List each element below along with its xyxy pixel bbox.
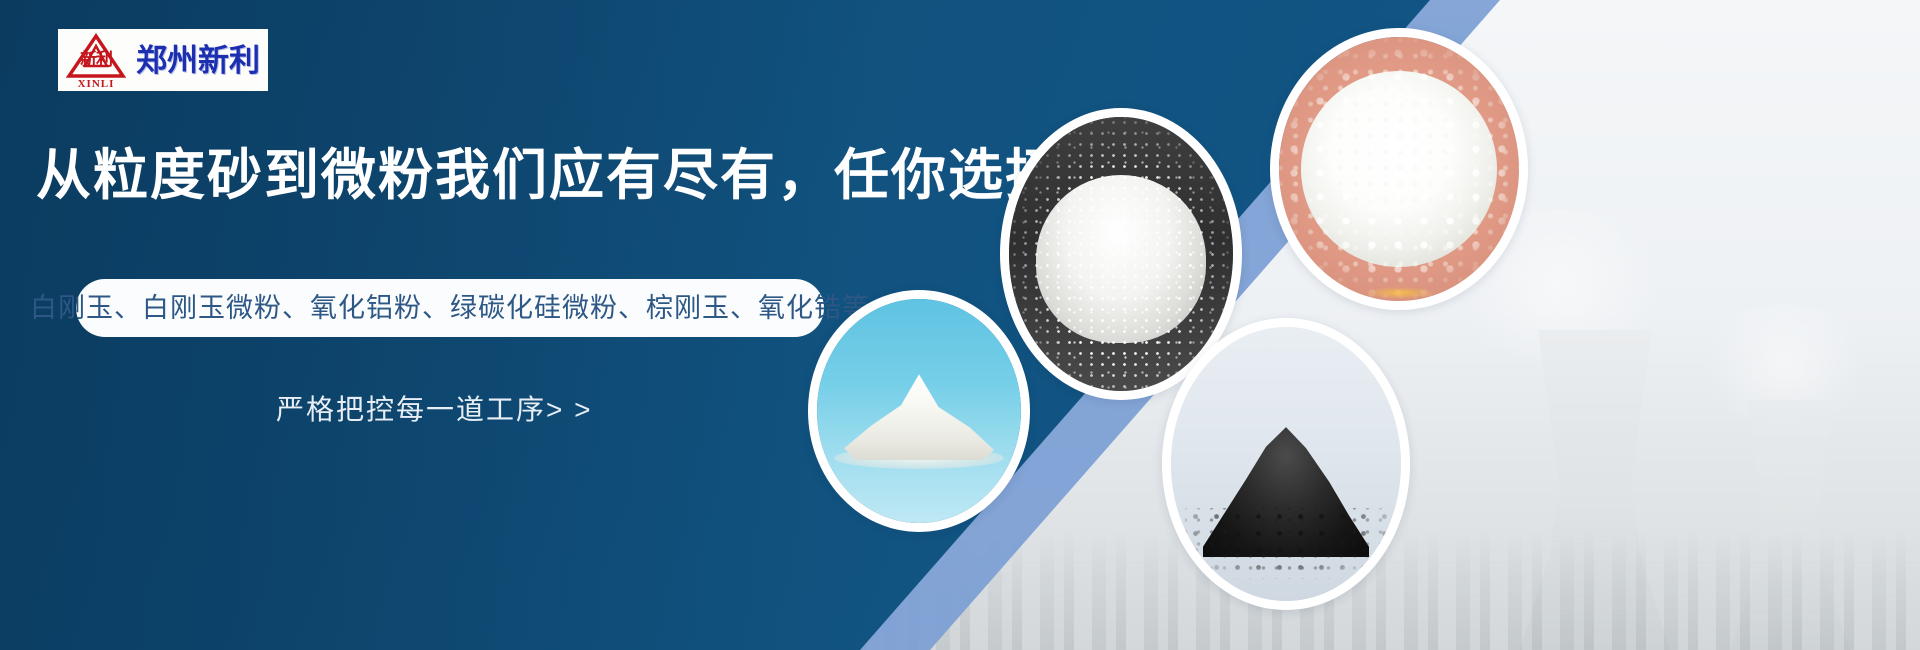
headline: 从粒度砂到微粉我们应有尽有，任你选择 <box>36 148 1062 203</box>
product-material-heap <box>844 374 994 460</box>
product-photo-plate <box>1171 327 1401 601</box>
product-photo-plate <box>1279 37 1519 301</box>
product-material-grains <box>1279 37 1519 301</box>
promo-banner: 新利 XINLI 郑州新利 从粒度砂到微粉我们应有尽有，任你选择 白刚玉、白刚玉… <box>0 0 1920 650</box>
product-material-grains <box>1185 508 1387 579</box>
logo-wordmark: 郑州新利 <box>136 45 260 76</box>
company-logo[interactable]: 新利 XINLI 郑州新利 <box>58 29 268 91</box>
product-list-text: 白刚玉、白刚玉微粉、氧化铝粉、绿碳化硅微粉、棕刚玉、氧化锆等 <box>30 295 870 322</box>
product-photo-white-powder-on-salmon[interactable] <box>1270 28 1528 310</box>
product-list-pill[interactable]: 白刚玉、白刚玉微粉、氧化铝粉、绿碳化硅微粉、棕刚玉、氧化锆等 <box>76 279 824 337</box>
plate-rim-glint <box>1365 287 1435 299</box>
product-photo-plate <box>817 299 1021 523</box>
product-photo-white-powder-cone-on-sky[interactable] <box>808 290 1030 532</box>
logo-mark-text: 新利 <box>68 51 124 68</box>
logo-mark-pinyin: XINLI <box>64 79 128 90</box>
xinli-triangle-icon: 新利 XINLI <box>64 31 128 89</box>
product-photo-black-granules[interactable] <box>1162 318 1410 610</box>
cta-link[interactable]: 严格把控每一道工序> > <box>276 396 592 424</box>
